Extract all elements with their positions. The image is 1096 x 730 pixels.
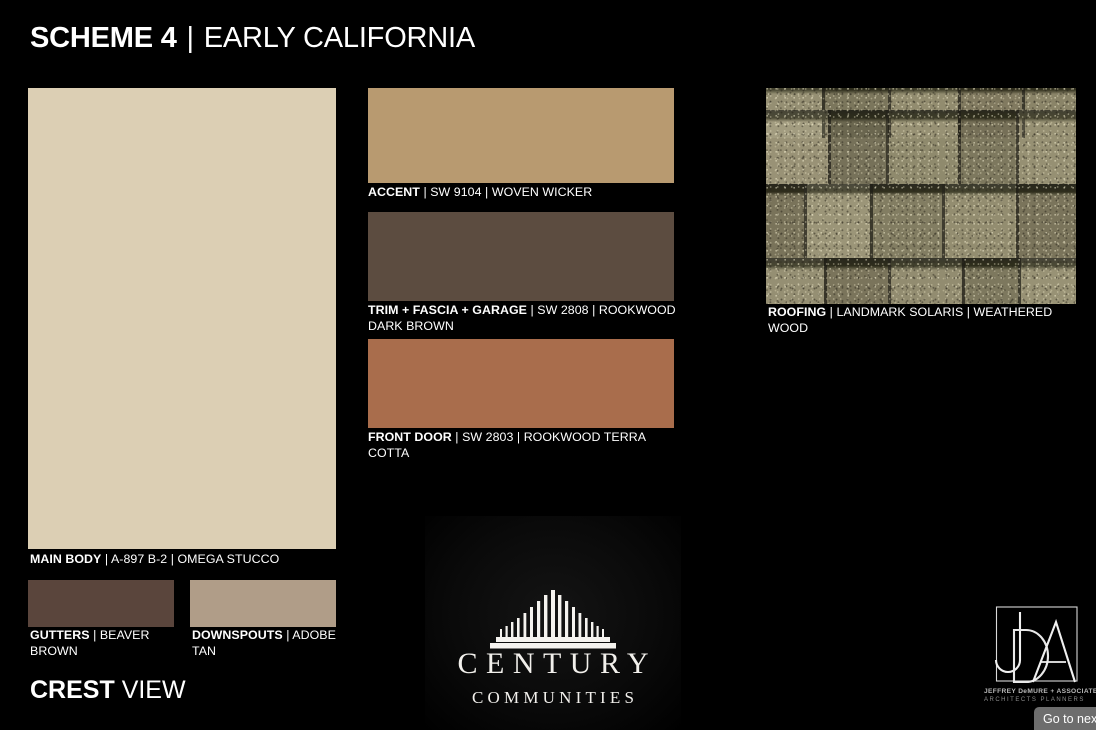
- caption-downspouts: DOWNSPOUTS | ADOBE TAN: [192, 628, 342, 659]
- page-title: SCHEME 4 | EARLY CALIFORNIA: [30, 22, 475, 55]
- caption-code-trim: SW 2808: [537, 303, 588, 317]
- caption-code-main-body: A-897 B-2: [111, 552, 167, 566]
- caption-trim-fascia-garage: TRIM + FASCIA + GARAGE | SW 2808 | ROOKW…: [368, 303, 678, 334]
- swatch-main-body[interactable]: [28, 88, 336, 549]
- caption-sep: |: [530, 303, 533, 317]
- caption-label-trim: TRIM + FASCIA + GARAGE: [368, 303, 527, 317]
- caption-sep: |: [286, 628, 289, 642]
- community-name-bold: CREST: [30, 676, 115, 704]
- caption-gutters: GUTTERS | BEAVER BROWN: [30, 628, 180, 659]
- caption-label-front-door: FRONT DOOR: [368, 430, 452, 444]
- caption-sep: |: [93, 628, 96, 642]
- caption-code-roofing: LANDMARK SOLARIS: [836, 305, 963, 319]
- scheme-number: SCHEME 4: [30, 22, 177, 54]
- go-to-next-page-button[interactable]: Go to next page: [1034, 707, 1096, 730]
- century-wordmark-primary: CENTURY: [425, 647, 681, 681]
- caption-color-main-body: OMEGA STUCCO: [177, 552, 279, 566]
- shingle-texture: [766, 88, 1076, 304]
- caption-sep: |: [423, 185, 426, 199]
- color-scheme-board: SCHEME 4 | EARLY CALIFORNIA MAIN BODY | …: [0, 0, 1096, 730]
- caption-sep: |: [967, 305, 970, 319]
- caption-label-roofing: ROOFING: [768, 305, 826, 319]
- jeffrey-demure-associates-logo: JEFFREY DeMURE + ASSOCIATES ARCHITECTS P…: [984, 606, 1084, 710]
- caption-main-body: MAIN BODY | A-897 B-2 | OMEGA STUCCO: [30, 552, 350, 568]
- caption-label-main-body: MAIN BODY: [30, 552, 101, 566]
- title-separator: |: [185, 22, 196, 54]
- caption-sep: |: [517, 430, 520, 444]
- caption-front-door: FRONT DOOR | SW 2803 | ROOKWOOD TERRA CO…: [368, 430, 688, 461]
- swatch-accent[interactable]: [368, 88, 674, 183]
- swatch-gutters[interactable]: [28, 580, 174, 627]
- caption-sep: |: [485, 185, 488, 199]
- caption-label-downspouts: DOWNSPOUTS: [192, 628, 283, 642]
- shingle-granule-texture: [766, 88, 1076, 304]
- century-wordmark-secondary: COMMUNITIES: [425, 688, 681, 708]
- jda-firm-name: JEFFREY DeMURE + ASSOCIATES: [984, 688, 1084, 695]
- caption-sep: |: [455, 430, 458, 444]
- caption-sep: |: [830, 305, 833, 319]
- caption-roofing: ROOFING | LANDMARK SOLARIS | WEATHERED W…: [768, 305, 1094, 336]
- swatch-trim-fascia-garage[interactable]: [368, 212, 674, 301]
- community-name-regular: VIEW: [122, 676, 186, 704]
- swatch-roofing-shingle-photo[interactable]: [766, 88, 1076, 304]
- caption-code-accent: SW 9104: [430, 185, 481, 199]
- jda-caption: JEFFREY DeMURE + ASSOCIATES ARCHITECTS P…: [984, 688, 1084, 703]
- caption-sep: |: [592, 303, 595, 317]
- jda-firm-discipline: ARCHITECTS PLANNERS: [984, 697, 1084, 703]
- caption-sep: |: [171, 552, 174, 566]
- jda-monogram-icon: [986, 606, 1078, 686]
- caption-label-accent: ACCENT: [368, 185, 420, 199]
- caption-color-accent: WOVEN WICKER: [492, 185, 592, 199]
- swatch-downspouts[interactable]: [190, 580, 336, 627]
- caption-sep: |: [105, 552, 108, 566]
- scheme-name: EARLY CALIFORNIA: [204, 22, 475, 54]
- caption-label-gutters: GUTTERS: [30, 628, 90, 642]
- swatch-front-door[interactable]: [368, 339, 674, 428]
- caption-code-front-door: SW 2803: [462, 430, 513, 444]
- caption-accent: ACCENT | SW 9104 | WOVEN WICKER: [368, 185, 688, 201]
- century-communities-logo: CENTURY COMMUNITIES: [425, 516, 681, 730]
- community-name: CREST VIEW: [30, 676, 186, 705]
